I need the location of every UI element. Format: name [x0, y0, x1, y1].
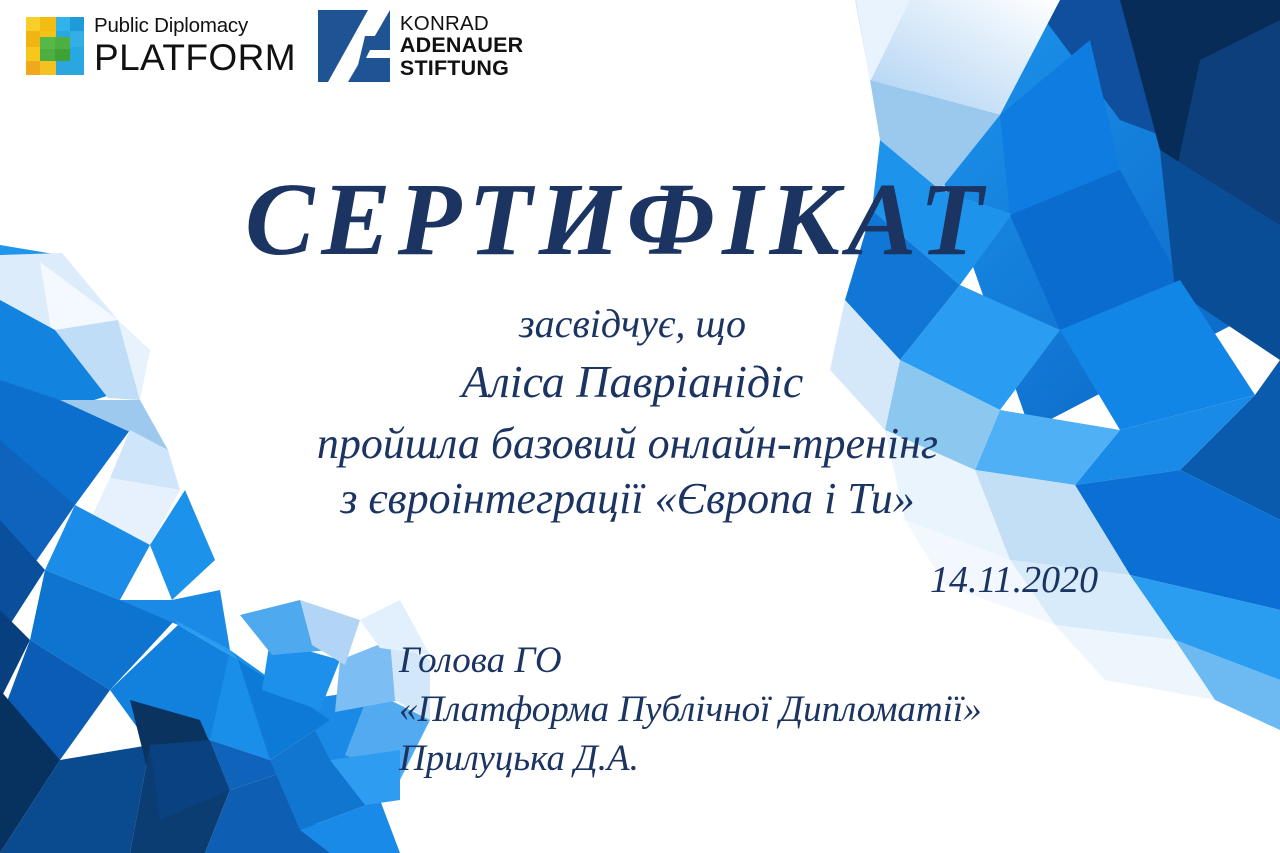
certificate-page: Public Diplomacy PLATFORM KONRAD ADENAUE… — [0, 0, 1280, 853]
kas-diagonal-a-mark — [318, 10, 390, 82]
kas-wordmark: KONRAD ADENAUER STIFTUNG — [400, 13, 523, 79]
kas-line-2: ADENAUER — [400, 34, 523, 56]
certificate-title: СЕРТИФІКАТ — [0, 160, 1235, 279]
recipient-name: Аліса Павріанідіс — [0, 355, 1265, 408]
pdp-line-1: Public Diplomacy — [94, 16, 296, 37]
public-diplomacy-square-mark — [26, 17, 84, 75]
public-diplomacy-platform-logo: Public Diplomacy PLATFORM — [26, 16, 296, 76]
decoration-bottom-left — [0, 600, 430, 853]
certificate-body-line-2: з євроінтеграції «Європа і Ти» — [0, 473, 1255, 524]
public-diplomacy-wordmark: Public Diplomacy PLATFORM — [94, 16, 296, 76]
konrad-adenauer-stiftung-logo: KONRAD ADENAUER STIFTUNG — [318, 10, 523, 82]
signatory-role: Голова ГО — [399, 636, 982, 685]
issue-date: 14.11.2020 — [930, 558, 1098, 602]
certificate-lead-text: засвідчує, що — [0, 300, 1265, 347]
signatory-organization: «Платформа Публічної Дипломатії» — [399, 685, 982, 734]
signature-block: Голова ГО «Платформа Публічної Дипломаті… — [399, 636, 982, 784]
kas-line-3: STIFTUNG — [400, 57, 523, 79]
pdp-line-2: PLATFORM — [94, 39, 296, 76]
signatory-name: Прилуцька Д.А. — [399, 734, 982, 783]
logo-bar: Public Diplomacy PLATFORM KONRAD ADENAUE… — [26, 10, 523, 82]
certificate-body-line-1: пройшла базовий онлайн-тренінг — [0, 418, 1255, 469]
kas-line-1: KONRAD — [400, 13, 523, 34]
